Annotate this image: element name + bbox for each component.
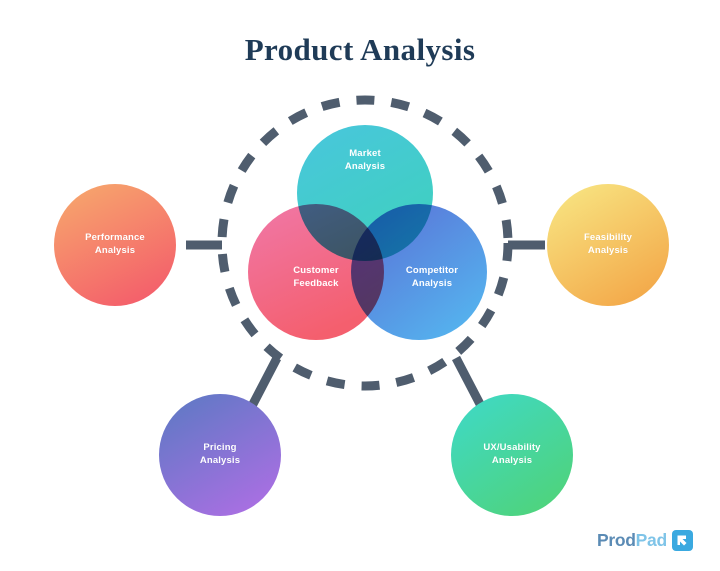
- prodpad-wordmark-prod: Prod: [597, 530, 636, 550]
- venn-group: [248, 125, 487, 340]
- product-analysis-diagram: [0, 0, 720, 571]
- connector-ux-usability: [456, 358, 481, 406]
- prodpad-wordmark-pad: Pad: [636, 530, 667, 550]
- prodpad-mark-icon: [672, 530, 693, 551]
- connector-pricing: [252, 358, 277, 406]
- outer-node-performance[interactable]: [54, 184, 176, 306]
- performance-circle[interactable]: [54, 184, 176, 306]
- outer-node-pricing[interactable]: [159, 394, 281, 516]
- feasibility-circle[interactable]: [547, 184, 669, 306]
- outer-node-ux-usability[interactable]: [451, 394, 573, 516]
- venn-circle-competitor[interactable]: [351, 204, 487, 340]
- outer-node-feasibility[interactable]: [547, 184, 669, 306]
- prodpad-wordmark: ProdPad: [597, 530, 667, 551]
- prodpad-logo[interactable]: ProdPad: [597, 530, 693, 551]
- pricing-circle[interactable]: [159, 394, 281, 516]
- diagram-canvas: Product Analysis: [0, 0, 720, 571]
- ux-usability-circle[interactable]: [451, 394, 573, 516]
